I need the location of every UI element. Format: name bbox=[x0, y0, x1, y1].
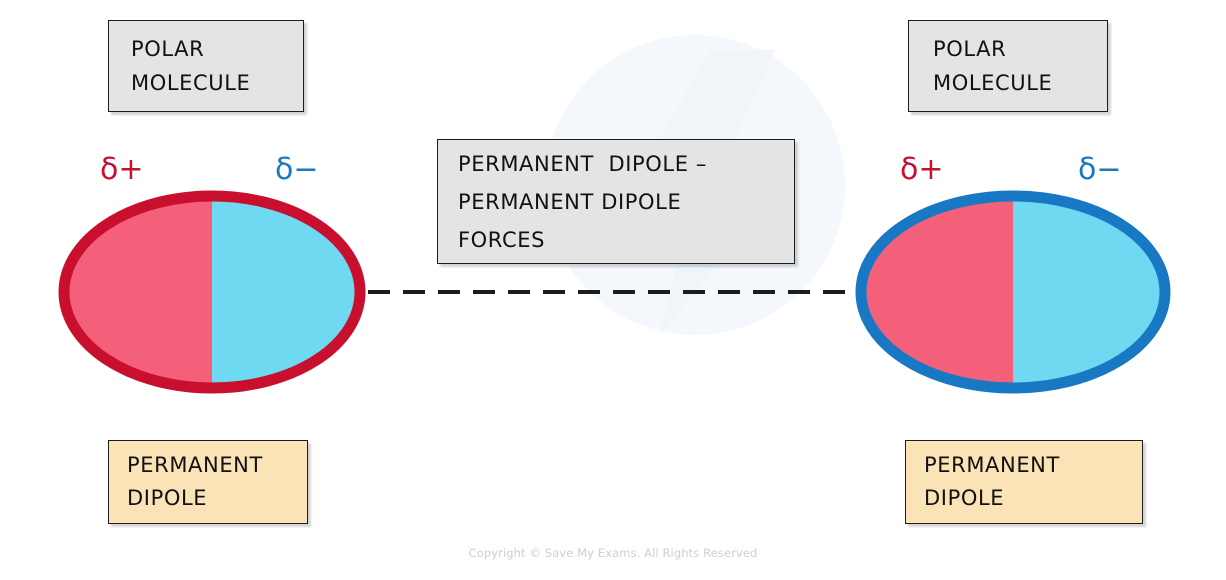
label-polar-molecule-left: POLAR MOLECULE bbox=[108, 20, 304, 112]
label-permanent-dipole-left-line1: PERMANENT bbox=[127, 449, 307, 482]
copyright-notice: Copyright © Save My Exams. All Rights Re… bbox=[0, 546, 1226, 560]
delta-negative-left: δ− bbox=[275, 152, 319, 187]
label-permanent-dipole-right: PERMANENT DIPOLE bbox=[905, 440, 1143, 524]
label-polar-molecule-right-line1: POLAR bbox=[933, 32, 1107, 66]
label-polar-molecule-left-line2: MOLECULE bbox=[131, 66, 303, 100]
delta-negative-right: δ− bbox=[1078, 152, 1122, 187]
label-permanent-dipole-right-line2: DIPOLE bbox=[924, 482, 1142, 515]
delta-positive-right: δ+ bbox=[900, 152, 944, 187]
label-polar-molecule-right: POLAR MOLECULE bbox=[908, 20, 1108, 112]
label-permanent-dipole-left-line2: DIPOLE bbox=[127, 482, 307, 515]
label-permanent-dipole-forces: PERMANENT DIPOLE – PERMANENT DIPOLE FORC… bbox=[437, 139, 795, 264]
molecule-left-fill bbox=[52, 186, 372, 398]
label-permanent-dipole-left: PERMANENT DIPOLE bbox=[108, 440, 308, 524]
molecule-right-fill bbox=[848, 186, 1178, 398]
label-forces-line2: PERMANENT DIPOLE bbox=[458, 183, 794, 221]
molecule-left bbox=[52, 186, 372, 398]
label-forces-line1: PERMANENT DIPOLE – bbox=[458, 145, 794, 183]
label-permanent-dipole-right-line1: PERMANENT bbox=[924, 449, 1142, 482]
diagram-canvas: POLAR MOLECULE POLAR MOLECULE PERMANENT … bbox=[0, 0, 1226, 580]
delta-positive-left: δ+ bbox=[100, 152, 144, 187]
dashed-interaction-line bbox=[368, 290, 852, 294]
label-polar-molecule-left-line1: POLAR bbox=[131, 32, 303, 66]
label-polar-molecule-right-line2: MOLECULE bbox=[933, 66, 1107, 100]
label-forces-line3: FORCES bbox=[458, 221, 794, 259]
molecule-right bbox=[848, 186, 1178, 398]
